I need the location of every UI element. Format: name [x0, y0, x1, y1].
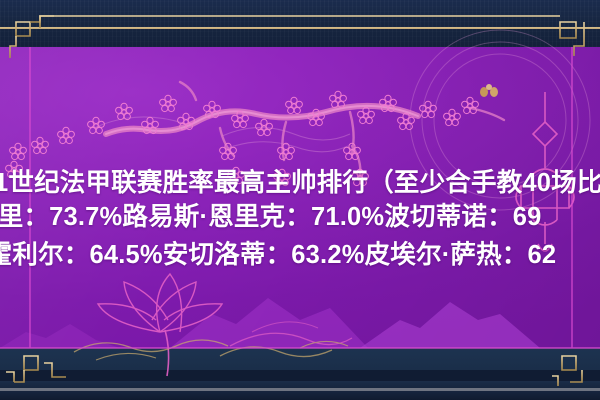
- top-navy-band: [0, 0, 600, 47]
- headline-line-2: 梅里：73.7%路易斯·恩里克：71.0%波切蒂诺：69: [0, 198, 600, 236]
- navy-band-c: [0, 381, 600, 388]
- navy-texture: [0, 0, 600, 47]
- navy-band-e: [0, 391, 600, 400]
- navy-band-a: [0, 348, 600, 370]
- navy-band-b: [0, 370, 600, 381]
- poster-image: 1世纪法甲联赛胜率最高主帅排行（至少合手教40场比 梅里：73.7%路易斯·恩里…: [0, 0, 600, 400]
- headline-line-1: 1世纪法甲联赛胜率最高主帅排行（至少合手教40场比: [0, 168, 600, 198]
- bottom-navy-band: [0, 348, 600, 400]
- headline-line-3: ·霍利尔：64.5%安切洛蒂：63.2%皮埃尔·萨热：62: [0, 236, 600, 274]
- poster-text-block: 1世纪法甲联赛胜率最高主帅排行（至少合手教40场比 梅里：73.7%路易斯·恩里…: [0, 168, 600, 274]
- gold-rule-icon: [0, 27, 600, 29]
